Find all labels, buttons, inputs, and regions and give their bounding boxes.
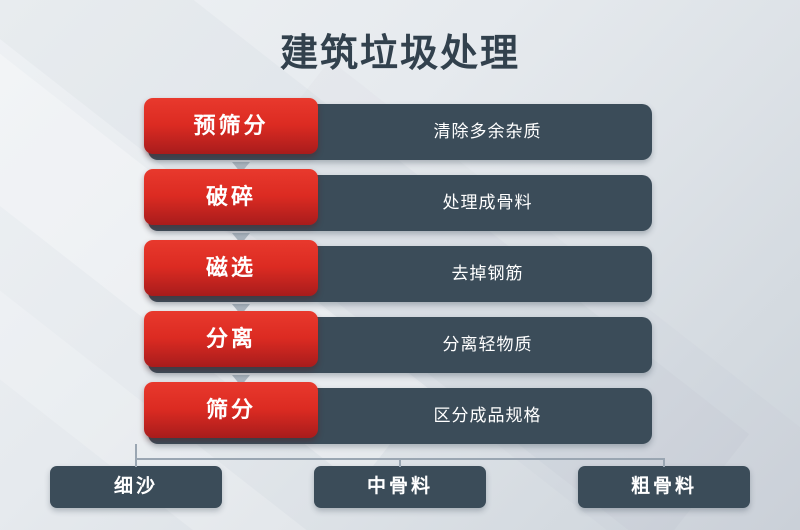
bracket-drop-3 [663,458,665,467]
process-step-4-description: 分离轻物质 [323,317,652,373]
process-step-4[interactable]: 分离 分离轻物质 [148,317,652,373]
process-step-1-description: 清除多余杂质 [323,104,652,160]
process-step-3-description: 去掉钢筋 [323,246,652,302]
result-box-2[interactable]: 中骨料 [314,466,486,508]
process-step-2-description: 处理成骨料 [323,175,652,231]
bracket-drop-2 [399,458,401,467]
process-step-4-tag: 分离 [144,311,318,367]
diagram-canvas: 建筑垃圾处理 预筛分 清除多余杂质 破碎 处理成骨料 磁选 去掉钢筋 分离 分离… [0,0,800,530]
process-step-1-tag: 预筛分 [144,98,318,154]
process-step-2[interactable]: 破碎 处理成骨料 [148,175,652,231]
process-step-5-description: 区分成品规格 [323,388,652,444]
bracket-drop-1 [135,458,137,467]
process-step-5-tag: 筛分 [144,382,318,438]
process-step-3[interactable]: 磁选 去掉钢筋 [148,246,652,302]
process-step-1[interactable]: 预筛分 清除多余杂质 [148,104,652,160]
page-title: 建筑垃圾处理 [0,22,800,77]
process-step-2-tag: 破碎 [144,169,318,225]
result-box-3[interactable]: 粗骨料 [578,466,750,508]
result-box-1[interactable]: 细沙 [50,466,222,508]
process-step-5[interactable]: 筛分 区分成品规格 [148,388,652,444]
process-step-3-tag: 磁选 [144,240,318,296]
